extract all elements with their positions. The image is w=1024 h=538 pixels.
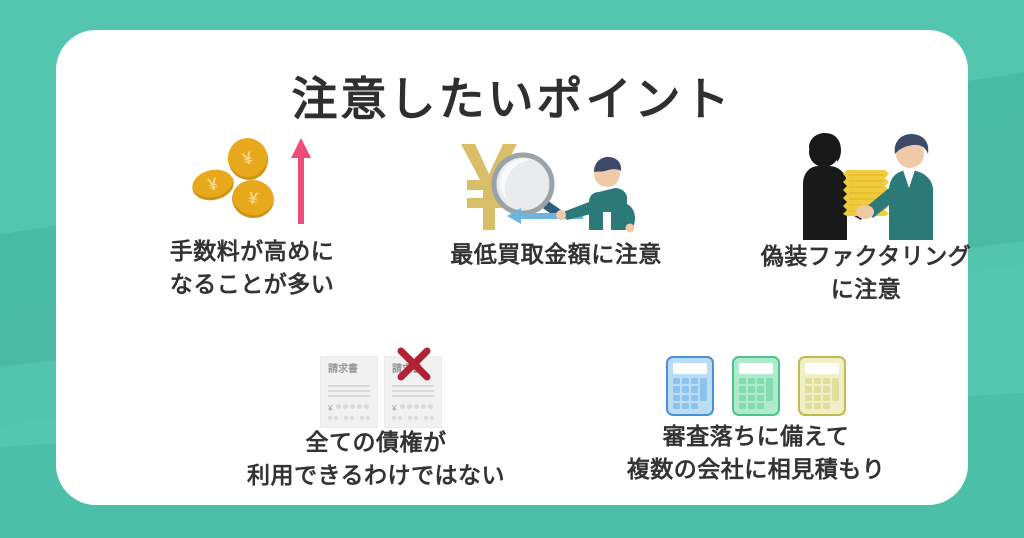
point-item-fees: 手数料が高めに なることが多い [102, 130, 402, 301]
coin-icon [189, 166, 236, 204]
point-item-fake-factoring: 偽装ファクタリング に注意 [716, 130, 1016, 306]
x-mark-icon [394, 344, 434, 384]
page-title: 注意したいポイント [56, 76, 968, 122]
magnifier-icon [494, 155, 559, 214]
up-arrow-icon [290, 136, 312, 224]
invoice-currency: ¥ [328, 405, 332, 413]
coin-icon [230, 177, 277, 220]
content-card: 注意したいポイント 手数料が高めに なることが多い [56, 30, 968, 505]
point-caption: 最低買取金額に注意 [391, 238, 721, 271]
point-caption: 偽装ファクタリング に注意 [716, 240, 1016, 306]
point-item-multiple-quotes: 審査落ちに備えて 複数の会社に相見積もり [586, 352, 926, 486]
calculator-icon [798, 356, 846, 416]
person-icon [556, 157, 635, 233]
invoice-document: 請求書 ¥ // [320, 356, 378, 428]
point-item-minimum-purchase: 最低買取金額に注意 [391, 138, 721, 271]
invoice-title: 請求書 [328, 364, 370, 376]
yen-magnifier-person-icon [451, 138, 661, 238]
point-caption: 審査落ちに備えて 複数の会社に相見積もり [586, 420, 926, 486]
calculator-icon [666, 356, 714, 416]
calculator-icon [732, 356, 780, 416]
invoice-currency: ¥ [392, 405, 396, 413]
invoice-documents-x-mark-icon: 請求書 ¥ // 請求書 ¥ // [306, 348, 446, 426]
point-caption: 手数料が高めに なることが多い [102, 235, 402, 301]
gold-coins-rising-arrow-icon [172, 130, 332, 235]
point-item-not-all-receivables: 請求書 ¥ // 請求書 ¥ // [211, 348, 541, 492]
handshake-money-exchange-icon [791, 130, 941, 240]
three-calculators-icon [666, 352, 846, 420]
point-caption: 全ての債権が 利用できるわけではない [211, 426, 541, 492]
